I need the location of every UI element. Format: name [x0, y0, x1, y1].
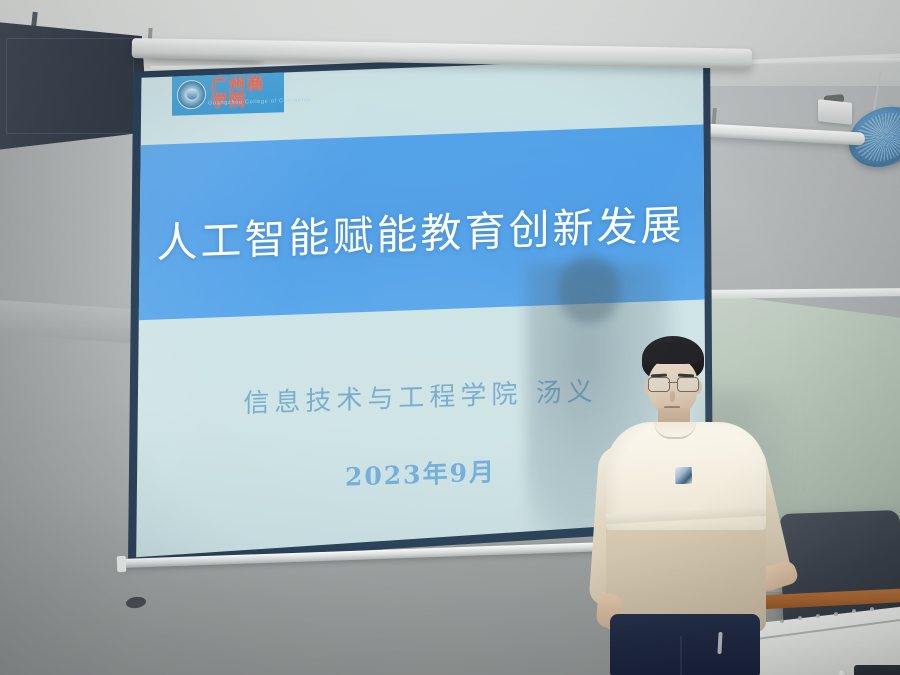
lectern-front-panel [854, 665, 900, 675]
screen-bar-end-cap [117, 556, 127, 572]
classroom-photo: 广州商学院 Guangzhou College of Commerce 人工智能… [0, 0, 900, 675]
glasses-bridge [668, 382, 677, 383]
lectern-vent-hole [870, 607, 874, 611]
lectern-vent-hole [816, 614, 820, 618]
lectern-vent-hole [834, 612, 838, 616]
lectern-vent-hole [798, 616, 802, 620]
university-seal-icon [177, 79, 206, 109]
glasses-lens [648, 377, 670, 392]
junction-box-icon [818, 99, 852, 125]
presenter-hair-fringe [644, 342, 702, 364]
wall-speaker-icon [0, 22, 148, 150]
presenter-pants-seam [680, 636, 682, 675]
presenter-nose [670, 391, 675, 402]
lectern-lock-knob[interactable] [838, 670, 847, 675]
glasses-icon [648, 377, 698, 391]
sweatshirt-logo-patch-icon [674, 466, 694, 486]
presenter [566, 336, 791, 675]
lectern-vent-hole [852, 609, 856, 613]
glasses-lens [677, 377, 699, 392]
university-logo: 广州商学院 Guangzhou College of Commerce [172, 70, 284, 116]
presenter-pants [610, 614, 760, 675]
